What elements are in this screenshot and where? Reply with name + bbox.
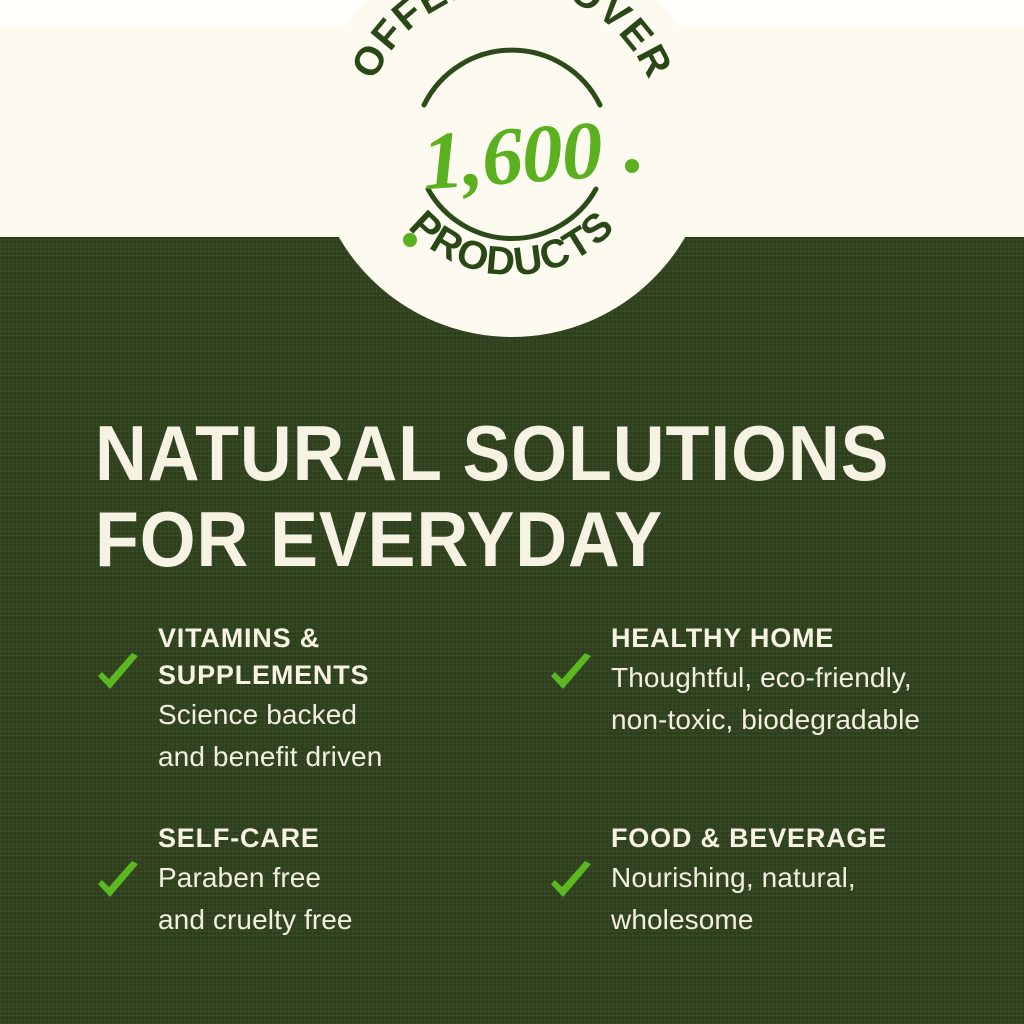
feature-description: Thoughtful, eco-friendly, non-toxic, bio… (611, 657, 981, 741)
badge-inner-arc-top (424, 50, 600, 105)
feature-body: SELF-CARE Paraben free and cruelty free (158, 820, 528, 941)
feature-desc-line-1: Thoughtful, eco-friendly, (611, 657, 981, 699)
feature-title: HEALTHY HOME (611, 620, 981, 657)
offering-over-products-badge: OFFERING OVER PRODUCTS 1,600 (312, 0, 712, 337)
feature-description: Paraben free and cruelty free (158, 857, 528, 941)
feature-grid: VITAMINS & SUPPLEMENTS Science backed an… (0, 620, 1024, 980)
feature-title: FOOD & BEVERAGE (611, 820, 981, 857)
badge-separator-dot-left (403, 233, 417, 247)
feature-desc-line-1: Science backed (158, 694, 528, 736)
page-title: NATURAL SOLUTIONS FOR EVERYDAY (95, 410, 895, 582)
feature-desc-line-2: and benefit driven (158, 736, 528, 778)
headline-line-2: FOR EVERYDAY (95, 496, 895, 582)
check-icon (95, 860, 141, 906)
feature-title: SELF-CARE (158, 820, 528, 857)
feature-title-line-1: VITAMINS & (158, 623, 320, 653)
badge-top-arc-text: OFFERING OVER (343, 0, 681, 85)
feature-body: HEALTHY HOME Thoughtful, eco-friendly, n… (611, 620, 981, 741)
promotional-banner: OFFERING OVER PRODUCTS 1,600 NATURAL SOL… (0, 0, 1024, 1024)
check-icon (95, 652, 141, 698)
feature-body: VITAMINS & SUPPLEMENTS Science backed an… (158, 620, 528, 778)
feature-description: Science backed and benefit driven (158, 694, 528, 778)
check-icon (548, 652, 594, 698)
feature-desc-line-2: non-toxic, biodegradable (611, 699, 981, 741)
feature-title: VITAMINS & SUPPLEMENTS (158, 620, 528, 694)
feature-title-line-1: SELF-CARE (158, 823, 320, 853)
feature-title-line-1: HEALTHY HOME (611, 623, 834, 653)
feature-title-line-2: SUPPLEMENTS (158, 660, 369, 690)
feature-body: FOOD & BEVERAGE Nourishing, natural, who… (611, 820, 981, 941)
feature-desc-line-2: and cruelty free (158, 899, 528, 941)
feature-description: Nourishing, natural, wholesome (611, 857, 981, 941)
check-icon (548, 860, 594, 906)
headline-line-1: NATURAL SOLUTIONS (95, 410, 895, 496)
feature-desc-line-2: wholesome (611, 899, 981, 941)
feature-desc-line-1: Nourishing, natural, (611, 857, 981, 899)
feature-title-line-1: FOOD & BEVERAGE (611, 823, 887, 853)
feature-desc-line-1: Paraben free (158, 857, 528, 899)
badge-bottom-arc-text: PRODUCTS (401, 202, 623, 284)
